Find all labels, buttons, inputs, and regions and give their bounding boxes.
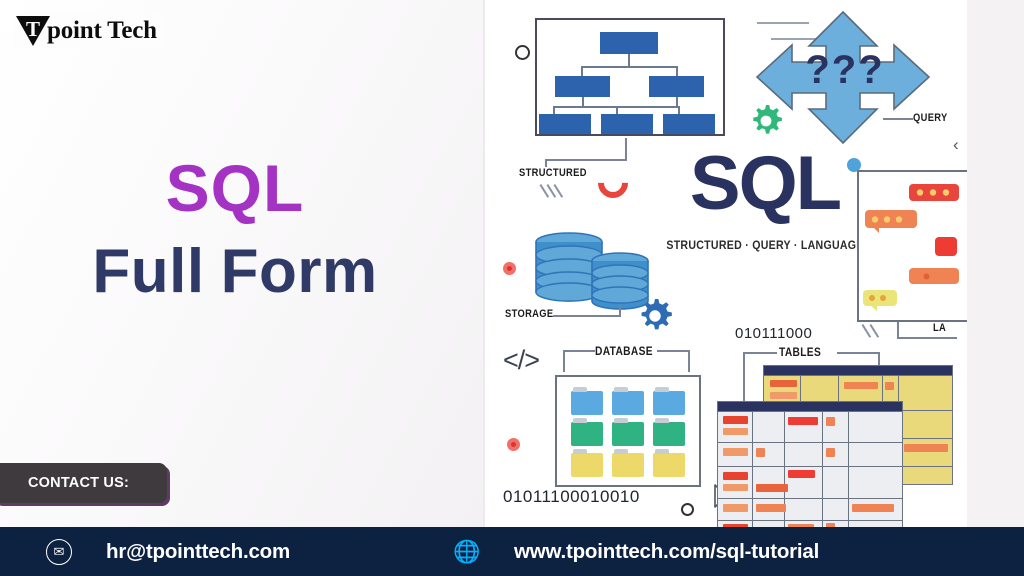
table-front-icon [717, 401, 903, 527]
footer-website-text: www.tpointtech.com/sql-tutorial [514, 540, 819, 564]
footer-bar: ✉ hr@tpointtech.com 🌐 www.tpointtech.com… [0, 527, 1024, 576]
title-line-sql: SQL [0, 150, 470, 226]
leader-line-language [897, 322, 899, 338]
gear-green-icon [749, 104, 783, 143]
gear-blue-icon [637, 298, 673, 339]
footer-email-group[interactable]: ✉ hr@tpointtech.com [46, 539, 290, 565]
chevron-left-icon: ‹ [953, 135, 959, 155]
leader-line-structured [625, 138, 627, 160]
label-database: DATABASE [595, 344, 653, 358]
illustration-canvas: STRUCTURED ??? QUERY ‹ [485, 0, 967, 527]
question-marks: ??? [795, 48, 895, 93]
sql-wordmark: SQL [665, 146, 865, 222]
label-language: LA [933, 322, 946, 334]
label-query: QUERY [913, 112, 948, 124]
envelope-icon: ✉ [46, 539, 72, 565]
logo-wordmark: point Tech [47, 17, 157, 45]
logo-mark-letter: T [16, 19, 50, 40]
label-storage: STORAGE [505, 308, 553, 320]
red-dot-decoration-1-icon [503, 262, 516, 275]
circle-outline-decoration-icon [515, 45, 530, 60]
hatch-lines-decoration-2-icon [859, 330, 893, 346]
footer-website-group[interactable]: 🌐 www.tpointtech.com/sql-tutorial [454, 539, 819, 565]
contact-us-label: CONTACT US: [28, 475, 129, 491]
slide-root: T point Tech SQL FullForm CONTACT US: [0, 0, 1024, 576]
contact-us-badge[interactable]: CONTACT US: [0, 463, 167, 503]
brand-logo[interactable]: T point Tech [14, 14, 163, 48]
hierarchy-diagram-icon [535, 18, 725, 136]
title-word-full: Full [92, 237, 204, 306]
label-tables: TABLES [779, 345, 821, 359]
title-line-fullform: FullForm [0, 234, 470, 310]
page-title: SQL FullForm [0, 150, 470, 310]
logo-triangle-icon: T [16, 16, 50, 46]
red-arc-decoration-icon [592, 162, 634, 204]
chat-bubbles-panel-icon [857, 170, 967, 322]
label-structured: STRUCTURED [519, 167, 587, 179]
circle-outline-decoration-2-icon [681, 503, 694, 516]
binary-string-left: 01011100010010 [503, 487, 640, 507]
red-dot-decoration-2-icon [507, 438, 520, 451]
sql-wordmark-subtitle: STRUCTURED · QUERY · LANGUAGE [664, 240, 866, 252]
binary-string-right: 010111000 [735, 325, 812, 342]
footer-email-text: hr@tpointtech.com [106, 540, 290, 564]
leader-line-database [563, 350, 565, 372]
globe-icon: 🌐 [454, 539, 480, 565]
code-brackets-icon: </> [503, 345, 539, 376]
illustration-panel: STRUCTURED ??? QUERY ‹ [485, 0, 1024, 527]
leader-line-query [883, 118, 913, 120]
hatch-lines-decoration-icon [537, 190, 571, 206]
database-folder-grid-icon [555, 375, 701, 487]
title-word-form: Form [221, 237, 378, 306]
